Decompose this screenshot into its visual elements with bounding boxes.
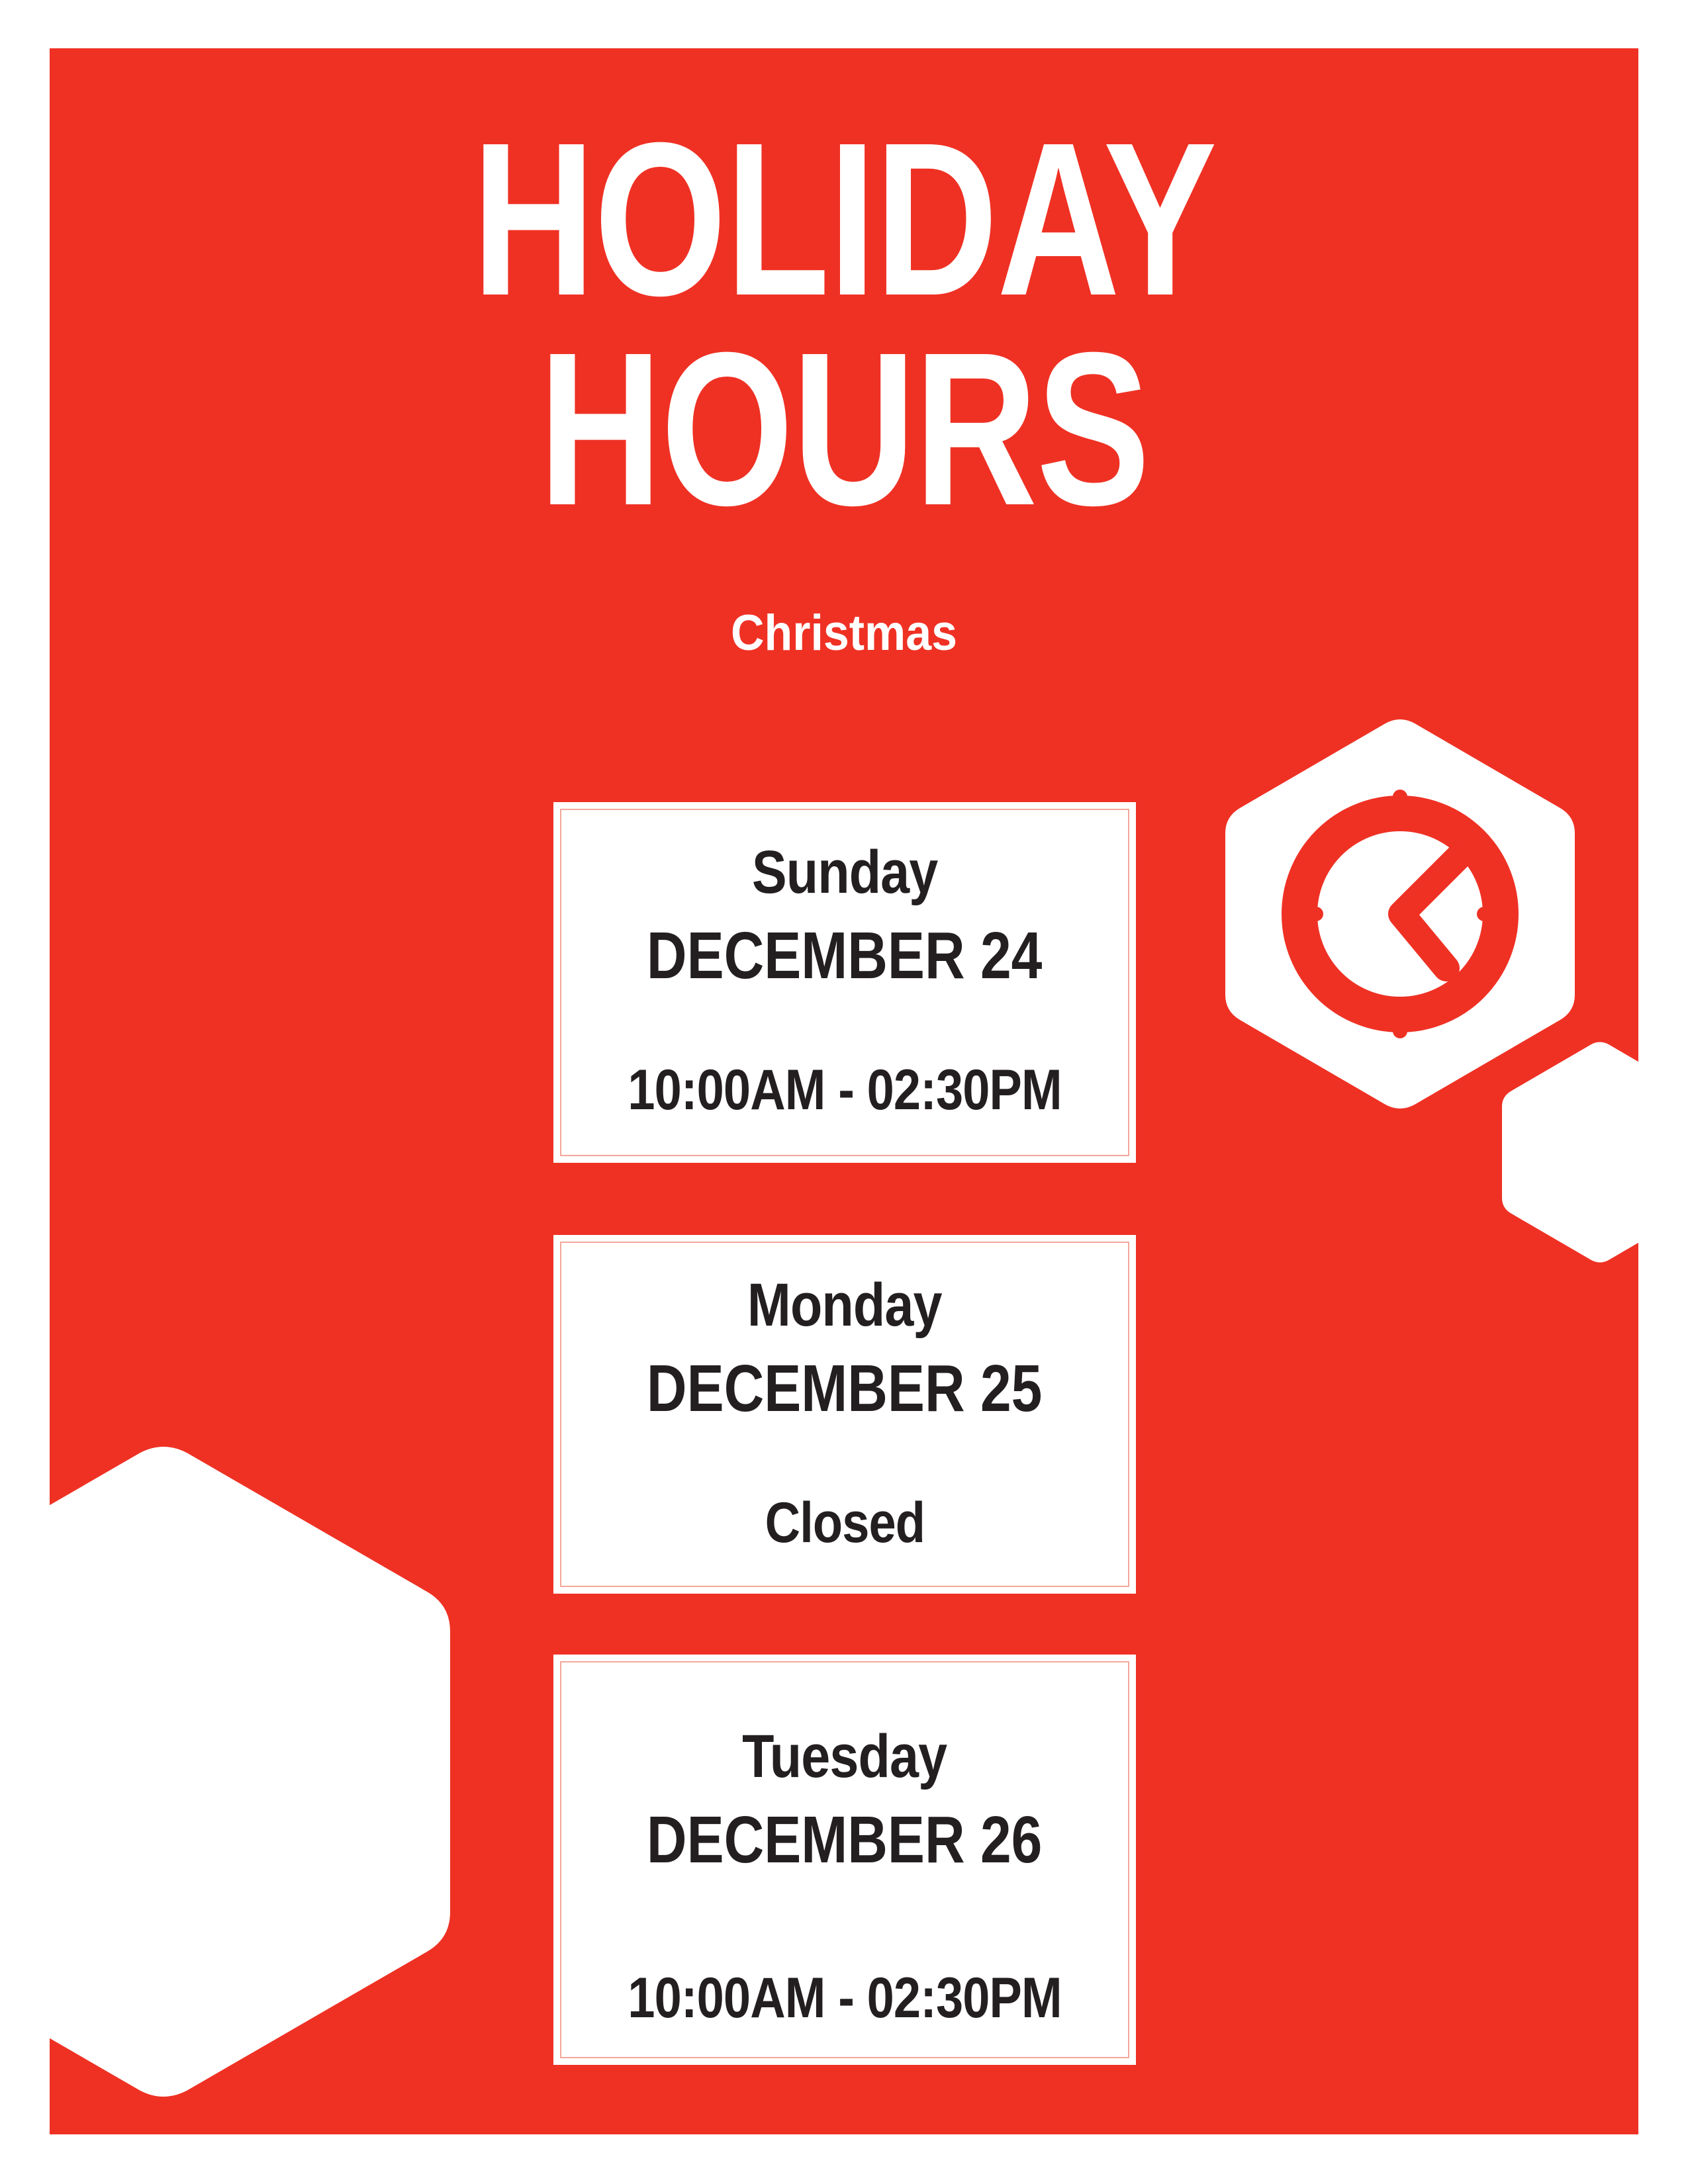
day-date: DECEMBER 24 <box>647 923 1042 989</box>
hexagon-accent-large <box>50 1441 455 2103</box>
day-hours: 10:00AM - 02:30PM <box>628 1970 1061 2026</box>
subtitle-christmas: Christmas <box>113 604 1575 662</box>
day-name: Monday <box>747 1275 942 1336</box>
schedule-card: Monday DECEMBER 25 Closed <box>553 1235 1136 1594</box>
day-name: Tuesday <box>742 1726 947 1787</box>
title-line-holiday: HOLIDAY <box>224 114 1464 324</box>
schedule-card-inner: Sunday DECEMBER 24 10:00AM - 02:30PM <box>560 809 1129 1156</box>
hexagon-accent-small <box>1501 1040 1638 1265</box>
day-name: Sunday <box>752 842 938 903</box>
page-title: HOLIDAY HOURS <box>50 114 1638 534</box>
day-date: DECEMBER 25 <box>647 1355 1042 1422</box>
red-background-panel: HOLIDAY HOURS Christmas <box>50 48 1638 2134</box>
day-date: DECEMBER 26 <box>647 1807 1042 1873</box>
day-hours: Closed <box>765 1494 924 1551</box>
schedule-card-inner: Tuesday DECEMBER 26 10:00AM - 02:30PM <box>560 1661 1129 2058</box>
schedule-card: Sunday DECEMBER 24 10:00AM - 02:30PM <box>553 802 1136 1163</box>
day-hours: 10:00AM - 02:30PM <box>628 1062 1061 1118</box>
schedule-card-inner: Monday DECEMBER 25 Closed <box>560 1242 1129 1587</box>
title-line-hours: HOURS <box>224 324 1464 534</box>
holiday-hours-poster: HOLIDAY HOURS Christmas <box>0 0 1688 2184</box>
schedule-card: Tuesday DECEMBER 26 10:00AM - 02:30PM <box>553 1655 1136 2065</box>
